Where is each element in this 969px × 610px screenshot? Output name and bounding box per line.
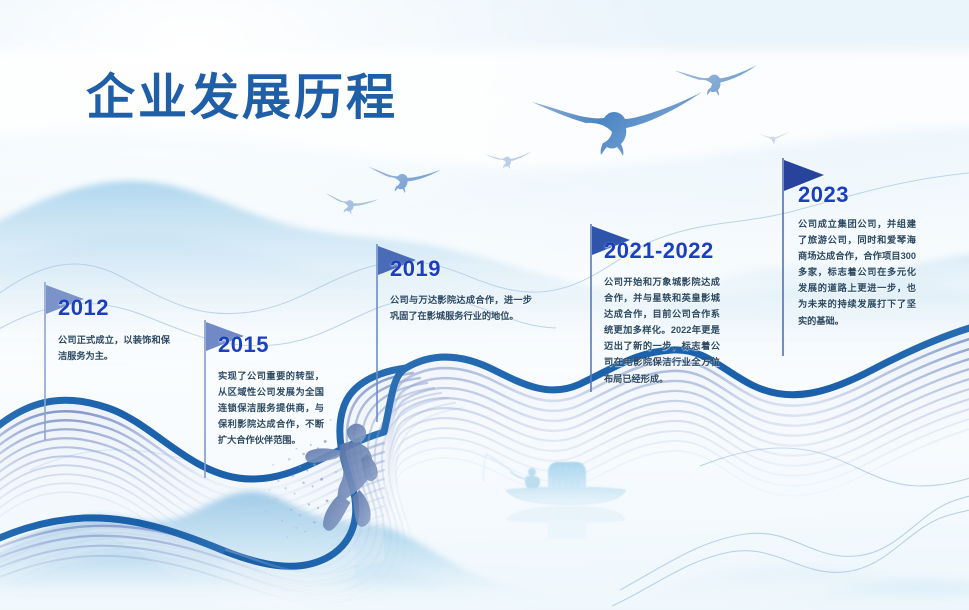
timeline-year-2023: 2023 bbox=[798, 182, 849, 208]
timeline-text-2023: 公司成立集团公司，并组建了旅游公司，同时和爱琴海商场达成合作，合作项目300多家… bbox=[798, 216, 916, 329]
page-title: 企业发展历程 bbox=[86, 58, 398, 129]
infographic-canvas: 企业发展历程 2012 公司正式成立，以装饰和保洁服务为主。 2015 实现了公… bbox=[0, 0, 969, 610]
timeline-text-2012: 公司正式成立，以装饰和保洁服务为主。 bbox=[58, 332, 170, 364]
timeline-text-2019: 公司与万达影院达成合作，进一步巩固了在影城服务行业的地位。 bbox=[390, 292, 532, 324]
timeline-year-2012: 2012 bbox=[58, 295, 109, 321]
timeline-year-2019: 2019 bbox=[390, 256, 441, 282]
timeline-year-2015: 2015 bbox=[218, 332, 269, 358]
timeline-text-2015: 实现了公司重要的转型，从区域性公司发展为全国连锁保洁服务提供商，与保利影院达成合… bbox=[218, 368, 324, 448]
timeline-text-2021-2022: 公司开始和万象城影院达成合作，并与星轶和英皇影城达成合作，目前公司合作系统更加多… bbox=[604, 274, 720, 387]
timeline-year-2021-2022: 2021-2022 bbox=[604, 238, 714, 264]
